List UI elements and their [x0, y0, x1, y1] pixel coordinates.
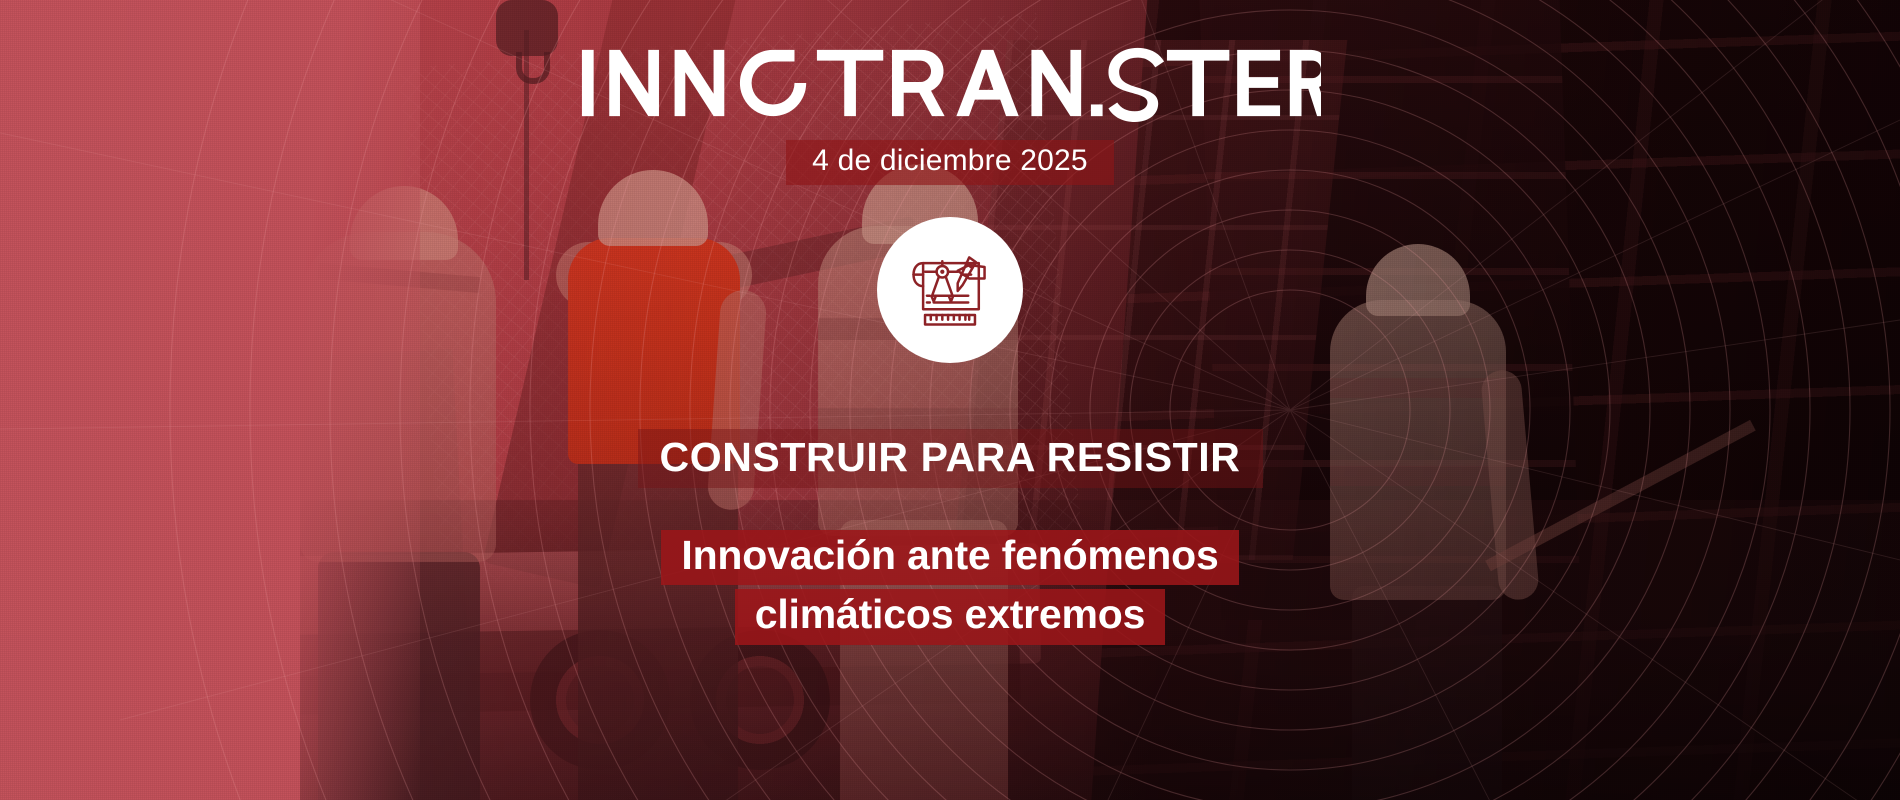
- event-date: 4 de diciembre 2025: [812, 145, 1088, 177]
- innotransfer-logo[interactable]: [580, 44, 1321, 122]
- subtitle-band-1: Innovación ante fenómenos: [661, 530, 1238, 586]
- banner-content: 4 de diciembre 2025: [0, 0, 1900, 800]
- subtitle-group: Innovación ante fenómenos climáticos ext…: [661, 530, 1238, 646]
- subtitle-line-2: climáticos extremos: [755, 594, 1145, 636]
- headline-band: CONSTRUIR PARA RESISTIR: [638, 429, 1263, 488]
- event-date-band: 4 de diciembre 2025: [786, 140, 1114, 185]
- page-title: CONSTRUIR PARA RESISTIR: [660, 437, 1241, 478]
- subtitle-line-1: Innovación ante fenómenos: [681, 535, 1218, 577]
- event-banner: 4 de diciembre 2025: [0, 0, 1900, 800]
- subtitle-band-2: climáticos extremos: [735, 589, 1165, 645]
- innotransfer-logo-icon: [580, 44, 1321, 122]
- blueprint-compass-icon-badge: [877, 217, 1023, 363]
- blueprint-compass-icon: [902, 242, 998, 338]
